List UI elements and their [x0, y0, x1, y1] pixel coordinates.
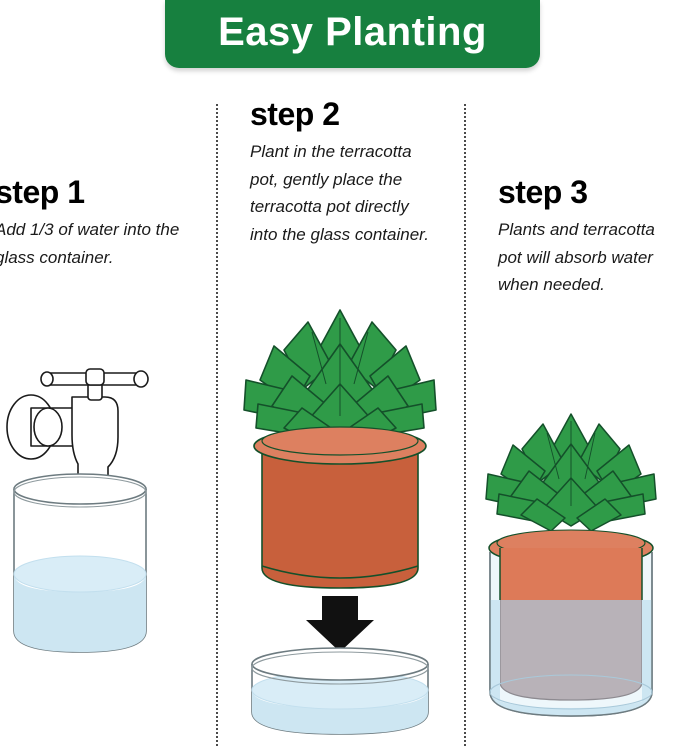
- glass-container: [14, 474, 146, 652]
- title-banner: Easy Planting: [165, 0, 540, 68]
- step-2-illustration: [216, 288, 464, 746]
- step-3-heading: step 3: [498, 176, 679, 208]
- step-1-heading: step 1: [0, 176, 190, 208]
- step-1-illustration: [0, 345, 216, 746]
- step-1-description: Add 1/3 of water into the glass containe…: [0, 216, 190, 271]
- step-3-description: Plants and terracotta pot will absorb wa…: [498, 216, 679, 299]
- infographic-page: Easy Planting step 1 Add 1/3 of water in…: [0, 0, 679, 746]
- down-arrow-icon: [306, 596, 374, 652]
- step-2-heading: step 2: [250, 98, 440, 130]
- succulent-plant-icon: [244, 310, 436, 446]
- terracotta-pot-above-water: [500, 548, 642, 600]
- terracotta-pot: [254, 427, 426, 588]
- step-2-description: Plant in the terracotta pot, gently plac…: [250, 138, 440, 248]
- step-2-text-block: step 2 Plant in the terracotta pot, gent…: [250, 98, 440, 248]
- step-3-illustration: [464, 400, 679, 746]
- glass-container: [252, 648, 428, 734]
- page-title: Easy Planting: [218, 12, 487, 56]
- step-1-text-block: step 1 Add 1/3 of water into the glass c…: [0, 176, 190, 271]
- step-3-text-block: step 3 Plants and terracotta pot will ab…: [498, 176, 679, 299]
- terracotta-pot-submerged: [500, 600, 642, 700]
- succulent-plant-icon: [486, 414, 656, 531]
